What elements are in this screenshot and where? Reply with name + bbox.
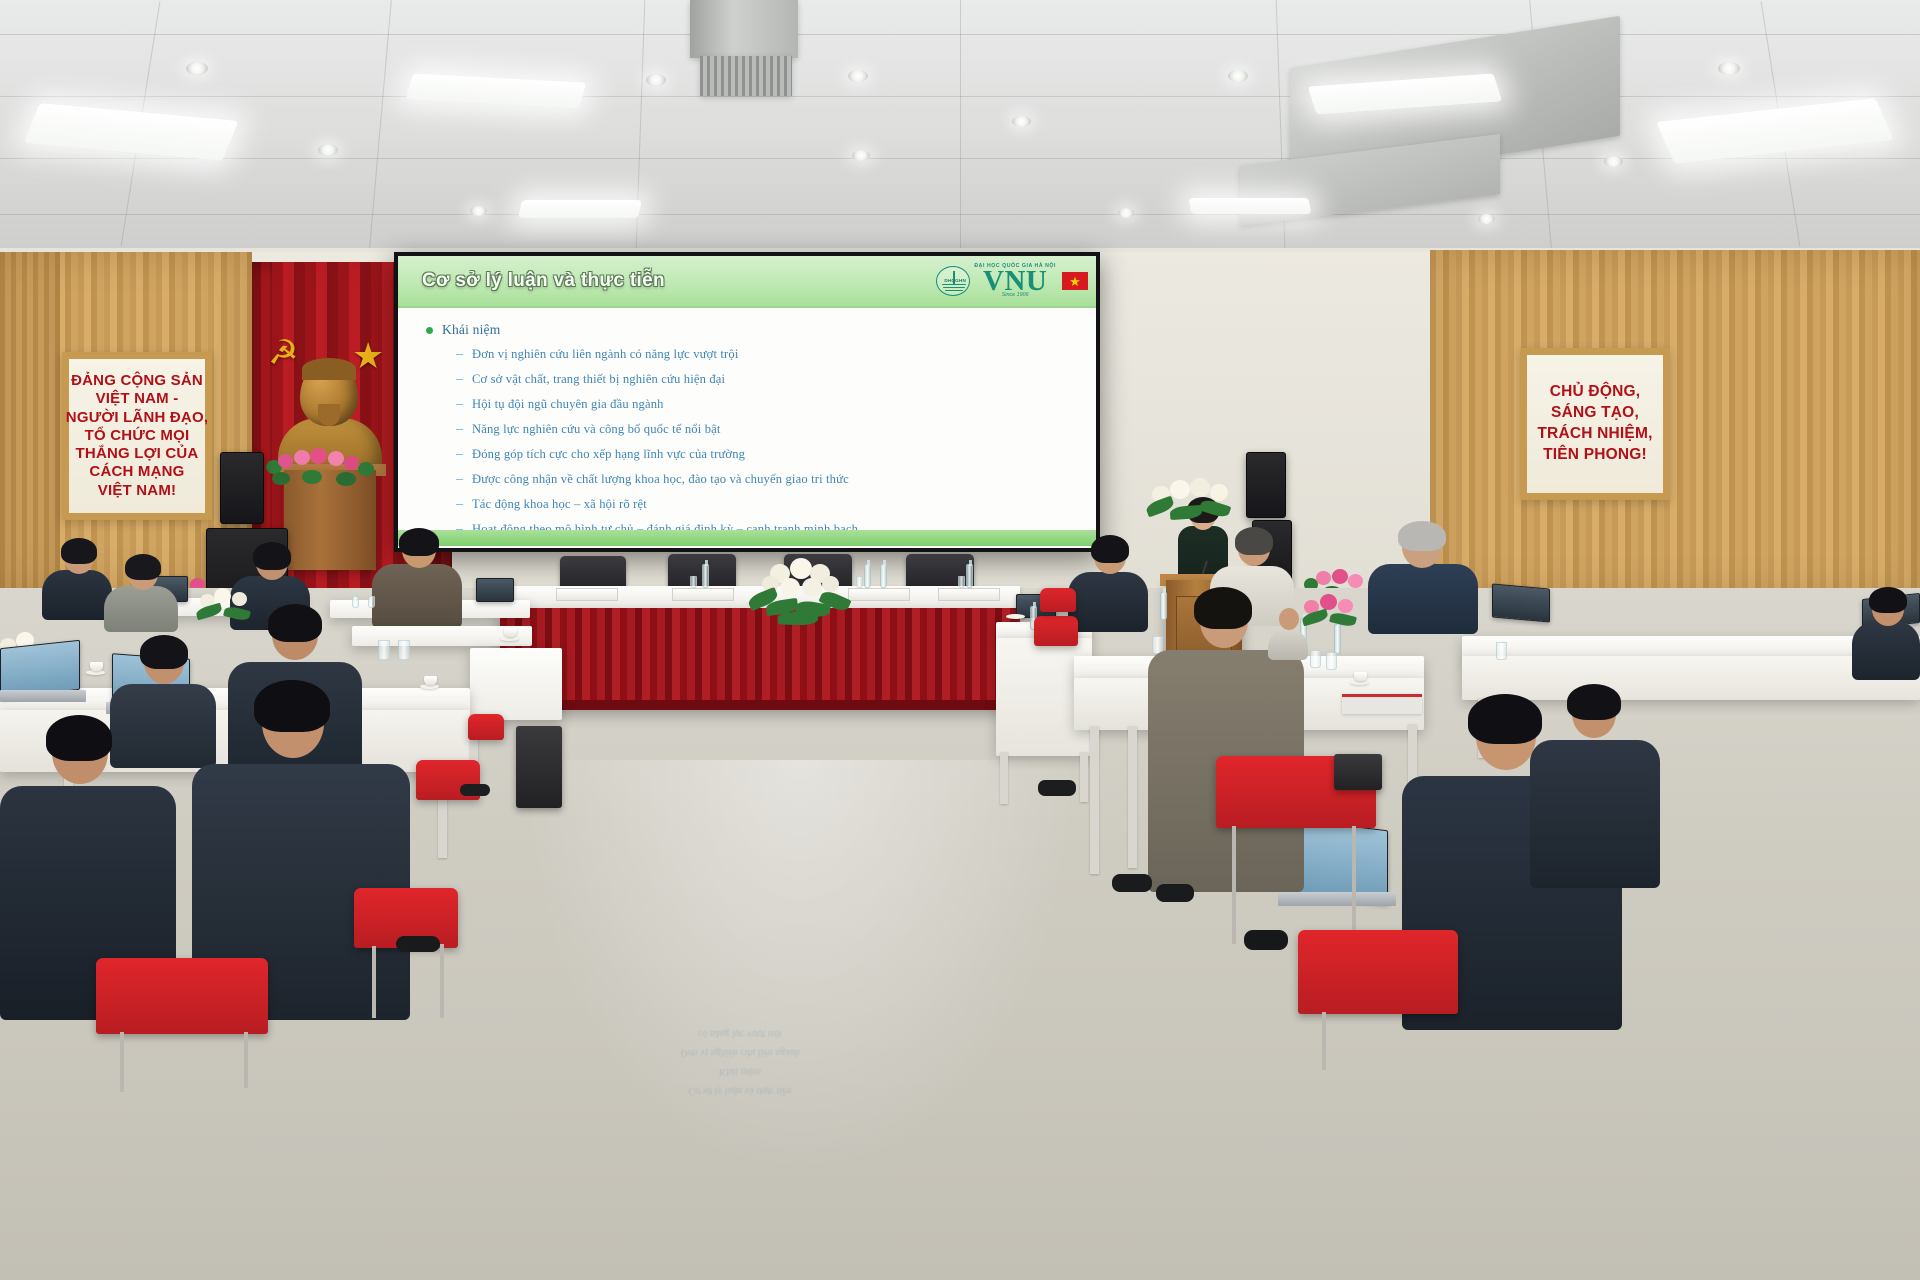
briefcase — [1334, 754, 1382, 790]
star-icon: ★ — [352, 338, 396, 378]
podium-flower-arrangement — [1146, 472, 1250, 528]
presidium-nameplate — [848, 588, 910, 601]
slide-footer-bar — [398, 530, 1096, 546]
person-body — [42, 570, 112, 620]
ceiling-duct-center — [690, 0, 798, 58]
water-bottle — [880, 564, 887, 588]
drinking-glass — [856, 576, 863, 588]
ceiling-downlight-4 — [646, 74, 666, 86]
person-hair — [46, 715, 112, 761]
slide-item-text: Cơ sở vật chất, trang thiết bị nghiên cứ… — [472, 372, 725, 387]
flower-arrangement-bust — [262, 446, 394, 494]
slide-item-text: Đóng góp tích cực cho xếp hạng lĩnh vực … — [472, 447, 745, 462]
drinking-glass — [1496, 642, 1507, 660]
dash-icon: – — [456, 447, 463, 461]
banner-left-line-5: THẮNG LỢI CỦA — [76, 445, 199, 463]
banner-left-line-4: TỔ CHỨC MỌI — [85, 427, 190, 445]
presidium-table-skirt-hem — [500, 700, 1020, 710]
audience-person — [104, 556, 178, 632]
vnu-logo-text: ĐẠI HỌC QUỐC GIA HÀ NỘI VNU Since 1906 — [974, 264, 1056, 298]
audience-person — [1268, 608, 1308, 660]
vnu-logo: DHQGHN ĐẠI HỌC QUỐC GIA HÀ NỘI VNU Since… — [936, 260, 1088, 302]
drinking-glass — [368, 596, 375, 608]
drinking-glass — [378, 640, 390, 660]
audience-person — [1368, 524, 1478, 634]
coffee-cup — [1354, 672, 1367, 681]
person-hair — [254, 680, 330, 732]
person-body — [372, 564, 462, 628]
saucer — [1006, 614, 1025, 619]
water-bottle — [1334, 624, 1341, 654]
vnu-seal-text: DHQGHN — [944, 278, 966, 283]
person-body — [1268, 628, 1308, 660]
person-hair — [1194, 587, 1252, 629]
table-leg — [1128, 726, 1137, 868]
water-bottle — [864, 564, 871, 588]
briefcase — [516, 726, 562, 808]
flag-star-icon: ★ — [1069, 275, 1081, 288]
wall-banner-right: CHỦ ĐỘNG, SÁNG TẠO, TRÁCH NHIỆM, TIÊN PH… — [1520, 348, 1670, 500]
ceiling-downlight-7 — [1012, 116, 1031, 127]
banner-left-line-6: CÁCH MẠNG — [89, 463, 184, 481]
chair-leg — [244, 1032, 248, 1088]
coffee-cup — [504, 628, 517, 637]
chair-leg — [372, 946, 376, 1018]
ceiling-downlight-5 — [848, 70, 868, 82]
shoe — [396, 936, 440, 952]
person-hair — [1398, 521, 1446, 551]
slide-item-text: Hội tụ đội ngũ chuyên gia đầu ngành — [472, 397, 664, 412]
table-flower-arrangement — [1302, 590, 1364, 628]
audience-person — [372, 530, 462, 628]
slide-item-text: Đơn vị nghiên cứu liên ngành có năng lực… — [472, 347, 739, 362]
slide-heading-text: Khái niệm — [442, 322, 500, 338]
drinking-glass — [1310, 650, 1321, 668]
ceiling-downlight-8 — [1228, 70, 1248, 82]
center-bouquet — [748, 556, 852, 632]
slide-item: – Đóng góp tích cực cho xếp hạng lĩnh vự… — [456, 447, 1096, 462]
wood-panel-left-edge — [0, 252, 60, 588]
chair-leg — [1232, 826, 1236, 944]
loudspeaker-right-upper — [1246, 452, 1286, 518]
shoe — [1244, 930, 1288, 950]
slide-heading-bullet: Khái niệm — [426, 322, 1096, 338]
dash-icon: – — [456, 472, 463, 486]
slide-item: – Đơn vị nghiên cứu liên ngành có năng l… — [456, 347, 1096, 362]
wood-panel-right — [1430, 250, 1920, 595]
wall-banner-left: ĐẢNG CỘNG SẢN VIỆT NAM - NGƯỜI LÃNH ĐẠO,… — [62, 352, 212, 520]
table-leg — [1080, 752, 1088, 802]
laptop-screen — [1492, 583, 1550, 622]
audience-chair — [96, 958, 268, 1034]
shoe — [1112, 874, 1152, 892]
conference-hall-scene: ☭ ★ ĐẢNG CỘNG SẢN VIỆT NAM - NGƯỜI LÃNH … — [0, 0, 1920, 1280]
floor-slide-reflection: Cơ sở lý luận và thực tiễn Khái niệm Đơn… — [560, 980, 920, 1100]
drinking-glass — [958, 576, 965, 588]
floor-reflection-line-4: có năng lực vượt trội — [560, 1024, 920, 1043]
dash-icon: – — [456, 422, 463, 436]
dash-icon: – — [456, 397, 463, 411]
vnu-acronym: VNU — [983, 268, 1047, 295]
presidium-nameplate — [938, 588, 1000, 601]
shoe — [460, 784, 490, 796]
person-hair — [1091, 535, 1129, 563]
bullet-dot-icon — [426, 327, 433, 334]
ceiling-panel-light-3 — [518, 200, 642, 218]
shoe — [1156, 884, 1194, 902]
ceiling-downlight-11 — [1718, 62, 1740, 75]
floor-reflection-line-3: Đơn vị nghiên cứu liên ngành — [560, 1043, 920, 1062]
coffee-cup — [90, 662, 103, 671]
ceiling-downlight-12 — [1604, 156, 1623, 167]
slide-item: – Năng lực nghiên cứu và công bố quốc tế… — [456, 422, 1096, 437]
water-bottle — [702, 564, 709, 588]
person-hair — [268, 604, 322, 642]
person-body — [1068, 572, 1148, 632]
coffee-cup — [424, 676, 437, 685]
water-bottle — [966, 564, 973, 588]
banner-left-line-2: VIỆT NAM - — [96, 390, 179, 408]
slide-item: – Cơ sở vật chất, trang thiết bị nghiên … — [456, 372, 1096, 387]
table-leg — [1000, 752, 1008, 804]
banner-left-line-7: VIỆT NAM! — [98, 482, 176, 500]
shoe — [1038, 780, 1076, 796]
audience-chair — [1034, 616, 1078, 646]
banner-right-line-1: CHỦ ĐỘNG, — [1550, 382, 1641, 403]
person-hair — [61, 538, 97, 564]
banner-right-line-4: TIÊN PHONG! — [1543, 445, 1647, 466]
ceiling-downlight-6 — [852, 150, 870, 161]
person-body — [1530, 740, 1660, 888]
banner-right-line-3: TRÁCH NHIỆM, — [1537, 424, 1652, 445]
audience-person — [1852, 590, 1920, 680]
ceiling-panel-light-6 — [1189, 198, 1312, 214]
vnu-seal-icon: DHQGHN — [936, 266, 970, 296]
ceiling-downlight-9 — [1118, 208, 1134, 218]
banner-left-line-1: ĐẢNG CỘNG SẢN — [71, 372, 203, 390]
banner-left-line-3: NGƯỜI LÃNH ĐẠO, — [66, 409, 208, 427]
audience-person — [1068, 538, 1148, 632]
table-leg — [1090, 726, 1099, 874]
person-body — [104, 586, 178, 632]
drinking-glass — [352, 596, 359, 608]
audience-chair — [1040, 588, 1076, 612]
person-hair — [253, 542, 291, 570]
bust-hair — [302, 358, 356, 380]
ceiling-downlight-2 — [318, 144, 338, 156]
slide-item-text: Được công nhận về chất lượng khoa học, đ… — [472, 472, 849, 487]
slide-header: Cơ sở lý luận và thực tiễn DHQGHN ĐẠI HỌ… — [398, 256, 1096, 308]
audience-chair — [468, 714, 504, 740]
drinking-glass — [690, 576, 697, 588]
dash-icon: – — [456, 497, 463, 511]
chair-leg — [440, 944, 444, 1018]
person-body — [1368, 564, 1478, 634]
chair-leg — [1322, 1012, 1326, 1070]
floor-reflection-sheen — [520, 760, 1080, 1180]
audience-person — [42, 540, 112, 620]
ceiling-downlight-1 — [186, 62, 208, 75]
ceiling-vent-center — [700, 56, 792, 96]
person-hair — [125, 554, 161, 580]
person-hair — [140, 635, 188, 669]
laptop-base — [1278, 892, 1396, 906]
person-hair — [1869, 587, 1907, 613]
laptop-base — [0, 690, 86, 702]
loudspeaker-left-upper — [220, 452, 264, 524]
dash-icon: – — [456, 347, 463, 361]
drinking-glass — [1326, 652, 1337, 670]
projection-screen-frame: Cơ sở lý luận và thực tiễn DHQGHN ĐẠI HỌ… — [394, 252, 1100, 552]
floor-reflection-line-1: Cơ sở lý luận và thực tiễn — [560, 1081, 920, 1100]
ceiling-downlight-3 — [470, 206, 487, 216]
audience-table — [470, 648, 562, 720]
person-body — [1852, 622, 1920, 680]
vietnam-flag-icon: ★ — [1062, 272, 1088, 290]
slide-item: – Hội tụ đội ngũ chuyên gia đầu ngành — [456, 397, 1096, 412]
dash-icon: – — [456, 372, 463, 386]
projected-slide: Cơ sở lý luận và thực tiễn DHQGHN ĐẠI HỌ… — [398, 256, 1096, 548]
chair-leg — [1352, 826, 1356, 938]
audience-person — [1530, 688, 1660, 888]
laptop-screen — [476, 578, 514, 602]
bust-beard — [318, 404, 340, 426]
audience-chair — [1298, 930, 1458, 1014]
presidium-nameplate — [556, 588, 618, 601]
slide-item: – Tác động khoa học – xã hội rõ rệt — [456, 497, 1096, 512]
presidium-nameplate — [672, 588, 734, 601]
floor-reflection-line-2: Khái niệm — [560, 1062, 920, 1081]
slide-item-text: Năng lực nghiên cứu và công bố quốc tế n… — [472, 422, 721, 437]
slide-body: Khái niệm – Đơn vị nghiên cứu liên ngành… — [398, 308, 1096, 546]
banner-right-line-2: SÁNG TẠO, — [1551, 403, 1639, 424]
person-hair — [1235, 527, 1273, 555]
person-hair — [1567, 684, 1621, 720]
person-hair — [399, 528, 439, 556]
chair-leg — [120, 1032, 124, 1092]
slide-title: Cơ sở lý luận và thực tiễn — [422, 270, 665, 292]
ceiling-downlight-10 — [1478, 214, 1495, 224]
slide-item-text: Tác động khoa học – xã hội rõ rệt — [472, 497, 647, 512]
vnu-since: Since 1906 — [1002, 293, 1029, 298]
slide-item: – Được công nhận về chất lượng khoa học,… — [456, 472, 1096, 487]
person-head — [1279, 608, 1299, 630]
drinking-glass — [398, 640, 410, 660]
